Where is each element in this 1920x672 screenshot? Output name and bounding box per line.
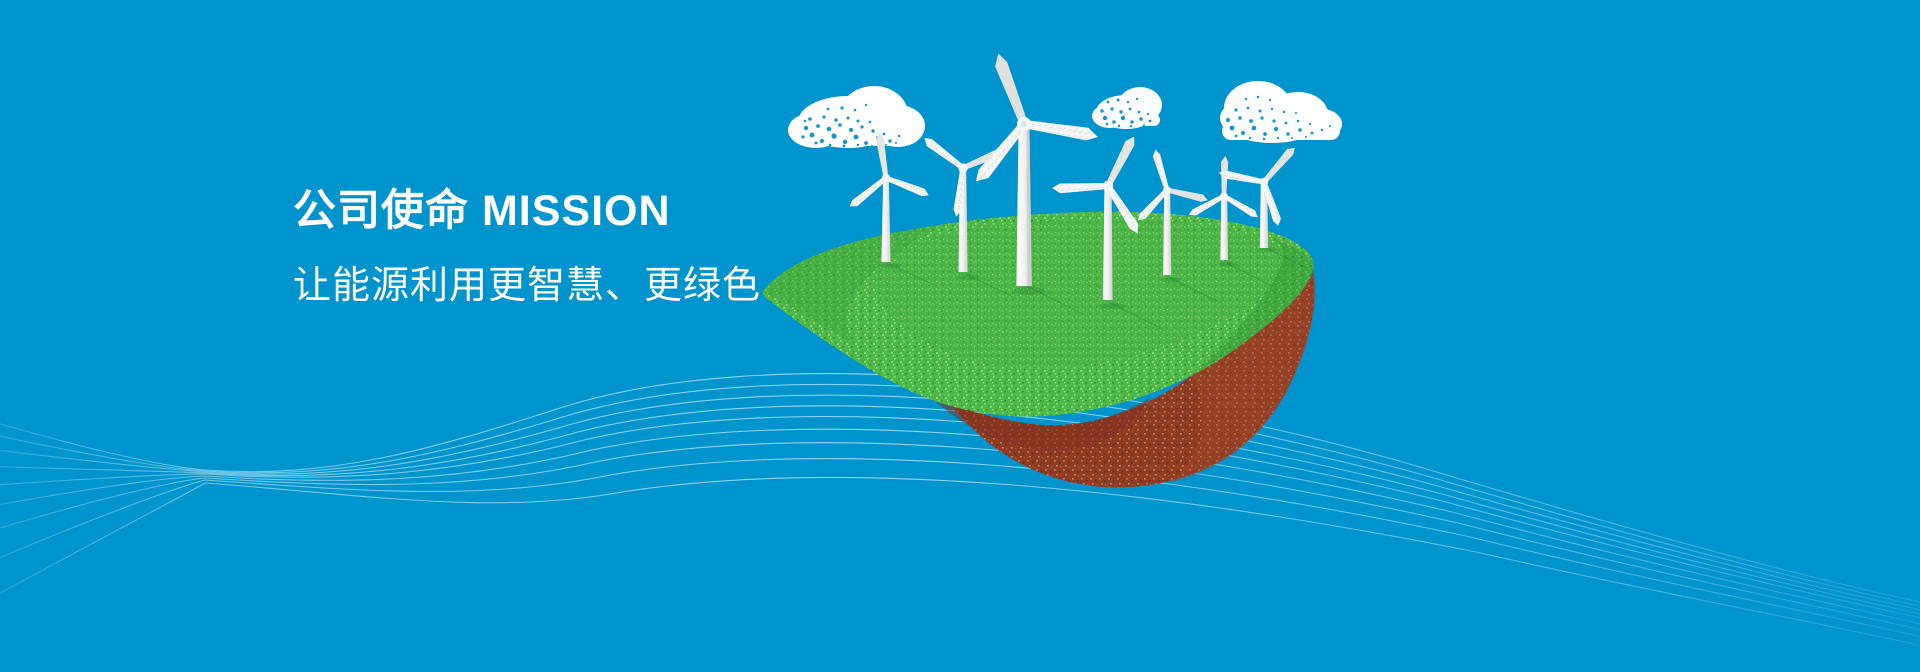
clouds-group (788, 81, 1342, 148)
cloud-middle (1092, 87, 1162, 129)
island-group (762, 212, 1315, 488)
mission-banner: 公司使命 MISSION 让能源利用更智慧、更绿色 (0, 0, 1920, 672)
floating-island-illustration (0, 0, 1920, 672)
cloud-left (788, 86, 925, 148)
cloud-right (1220, 81, 1342, 143)
page-title: 公司使命 MISSION (293, 188, 761, 235)
page-subtitle: 让能源利用更智慧、更绿色 (293, 266, 761, 308)
mission-text-block: 公司使命 MISSION 让能源利用更智慧、更绿色 (293, 188, 761, 308)
